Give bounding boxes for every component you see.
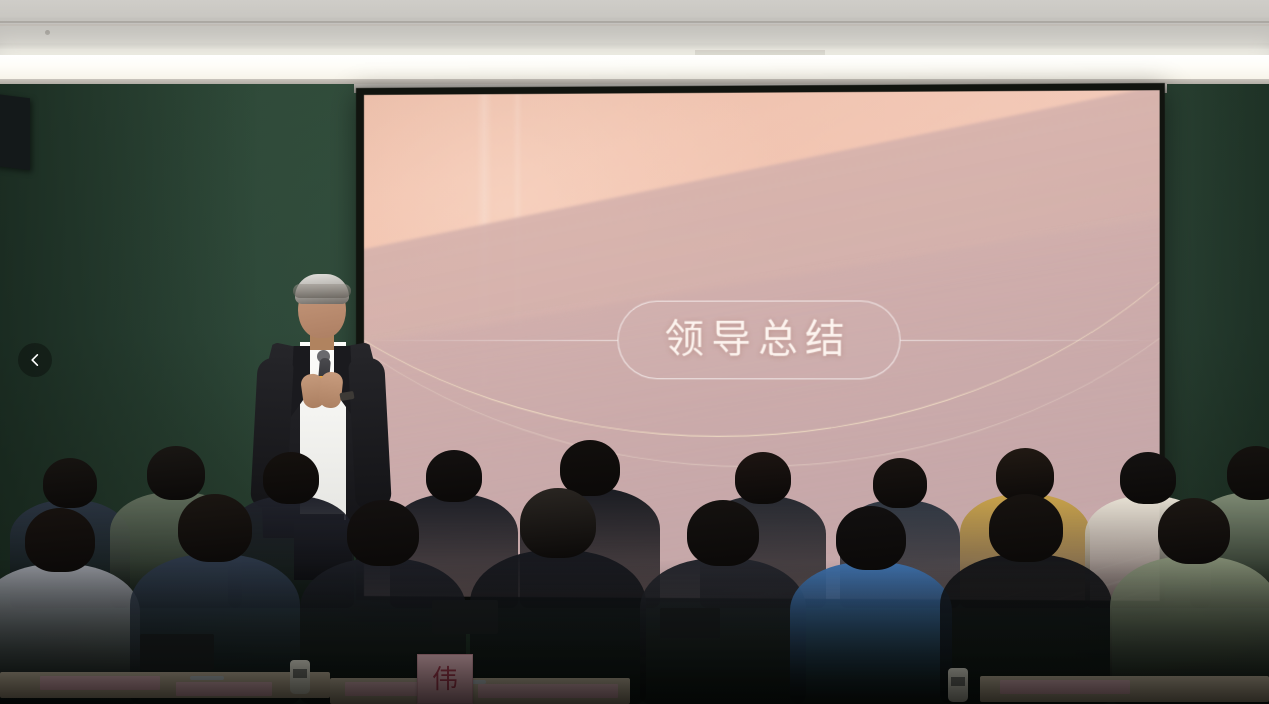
audience-member-body bbox=[790, 562, 952, 704]
paper-document bbox=[176, 682, 272, 696]
laptop bbox=[660, 608, 720, 638]
paper-document bbox=[478, 684, 618, 698]
name-placard: 伟 bbox=[417, 654, 473, 704]
audience-member-head bbox=[1158, 498, 1230, 564]
water-bottle bbox=[290, 660, 310, 694]
audience-member bbox=[470, 480, 646, 704]
audience-member-head bbox=[836, 506, 906, 570]
presenter-hair bbox=[295, 274, 349, 304]
audience-member-head bbox=[520, 488, 596, 558]
wall-speaker bbox=[0, 94, 30, 170]
previous-button[interactable] bbox=[18, 343, 52, 377]
laptop bbox=[140, 634, 214, 670]
slide-rule-left bbox=[364, 339, 617, 340]
chevron-left-icon bbox=[28, 353, 42, 367]
audience-member-head bbox=[687, 500, 759, 566]
slide-title: 领导总结 bbox=[617, 300, 900, 380]
audience-member-head bbox=[989, 494, 1063, 562]
audience-member bbox=[1110, 490, 1269, 704]
ceiling-seam bbox=[0, 24, 1269, 26]
water-bottle bbox=[948, 668, 968, 702]
laptop bbox=[432, 600, 498, 634]
audience-member bbox=[790, 498, 952, 704]
paper-document bbox=[1000, 680, 1130, 694]
slide-title-row: 领导总结 bbox=[364, 294, 1160, 386]
audience-member bbox=[640, 492, 806, 704]
ceiling-light-strip bbox=[0, 55, 1269, 79]
audience-member-head bbox=[347, 500, 419, 566]
pen bbox=[190, 676, 224, 680]
ceiling-seam bbox=[0, 21, 1269, 23]
ceiling-sensor-icon bbox=[45, 30, 50, 35]
audience-member-head bbox=[25, 508, 95, 572]
audience-member-head bbox=[178, 494, 252, 562]
paper-document bbox=[40, 676, 160, 690]
presentation-photo: 领导总结 伟 bbox=[0, 0, 1269, 704]
slide-rule-right bbox=[900, 339, 1159, 340]
